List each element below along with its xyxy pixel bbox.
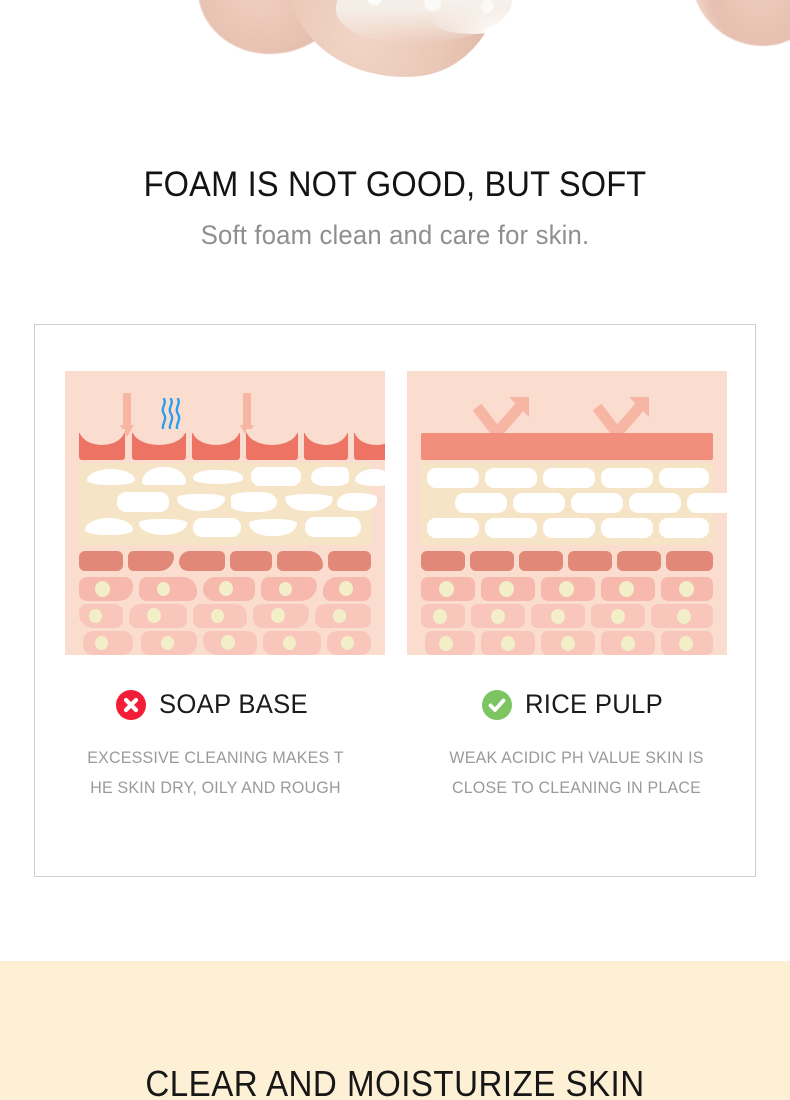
page-title: FOAM IS NOT GOOD, BUT SOFT (28, 165, 763, 205)
description-line: HE SKIN DRY, OILY AND ROUGH (40, 773, 390, 803)
check-circle-icon (482, 690, 512, 720)
comparison-column-soap-base: SOAP BASE EXCESSIVE CLEANING MAKES T HE … (35, 325, 396, 876)
cross-circle-icon (116, 690, 146, 720)
label-row-soap-base: SOAP BASE (35, 689, 396, 725)
moisture-escape-waves-icon (159, 398, 185, 430)
subcutaneous-cell-row (79, 604, 371, 628)
comparison-label: RICE PULP (525, 689, 663, 720)
deflected-arrow-icon (473, 393, 535, 435)
bottom-section-title: CLEAR AND MOISTURIZE SKIN (32, 1063, 759, 1100)
subcutaneous-cell-row (421, 577, 713, 601)
basal-layer-healthy (421, 551, 713, 571)
comparison-description-rice-pulp: WEAK ACIDIC PH VALUE SKIN IS CLOSE TO CL… (401, 743, 751, 803)
comparison-label: SOAP BASE (159, 689, 308, 720)
page-subtitle: Soft foam clean and care for skin. (20, 220, 771, 251)
subcutaneous-cell-row (79, 577, 371, 601)
comparison-card: SOAP BASE EXCESSIVE CLEANING MAKES T HE … (34, 324, 756, 877)
subcutaneous-cell-row (421, 631, 713, 655)
description-line: CLOSE TO CLEANING IN PLACE (401, 773, 751, 803)
comparison-description-soap-base: EXCESSIVE CLEANING MAKES T HE SKIN DRY, … (40, 743, 390, 803)
hands-foam-photo (0, 0, 790, 80)
deflected-arrow-icon (593, 393, 655, 435)
right-hand-shape (690, 0, 790, 46)
skin-cross-section-healthy-diagram (407, 371, 727, 655)
dermis-layer-healthy (421, 463, 713, 545)
basal-layer-damaged (79, 551, 371, 571)
skin-cross-section-damaged-diagram (65, 371, 385, 655)
description-line: EXCESSIVE CLEANING MAKES T (40, 743, 390, 773)
subcutaneous-cell-row (421, 604, 713, 628)
subcutaneous-cell-row (79, 631, 371, 655)
product-detail-page: FOAM IS NOT GOOD, BUT SOFT Soft foam cle… (0, 0, 790, 1100)
description-line: WEAK ACIDIC PH VALUE SKIN IS (401, 743, 751, 773)
dermis-layer-damaged (79, 463, 371, 545)
epidermis-intact-layer (421, 433, 713, 460)
label-row-rice-pulp: RICE PULP (396, 689, 757, 725)
epidermis-eroded-layer (79, 433, 371, 460)
comparison-column-rice-pulp: RICE PULP WEAK ACIDIC PH VALUE SKIN IS C… (396, 325, 757, 876)
